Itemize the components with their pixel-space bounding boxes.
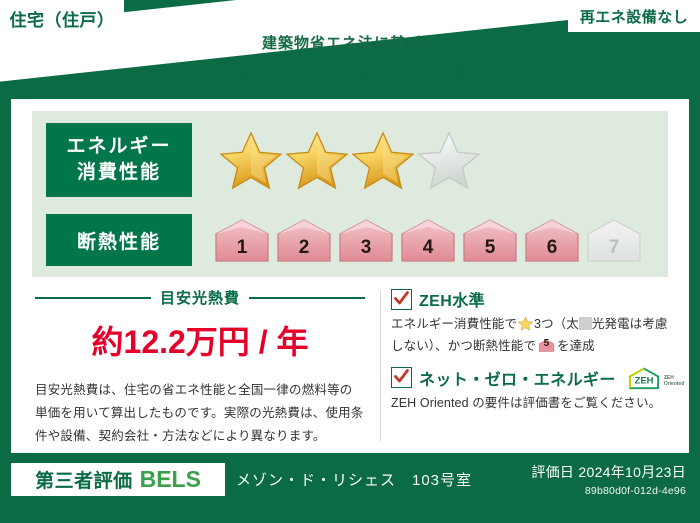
insulation-level-number-3: 3: [336, 237, 396, 259]
zeh-house-logo-icon: ZEH: [626, 366, 662, 390]
energy-performance-row: エネルギー 消費性能: [32, 123, 480, 197]
label-title: 建築物省エネ法に基づく 省エネ性能ラベル: [0, 36, 700, 91]
insulation-level-scale: 1 2 3: [212, 217, 644, 263]
inline-house-number: 5: [538, 335, 555, 353]
label-title-sub: 建築物省エネ法に基づく: [0, 36, 700, 53]
heading-rule-right: [249, 297, 365, 299]
star-icon-filled-2: [286, 130, 348, 190]
checkbox-checked-icon-net-zero[interactable]: [391, 367, 412, 388]
utility-cost-heading: 目安光熱費: [35, 287, 365, 308]
insulation-level-number-1: 1: [212, 237, 272, 259]
house-icon-inline-level5: 5: [538, 338, 555, 353]
checkbox-checked-icon-zeh-standard[interactable]: [391, 289, 412, 310]
utility-cost-amount: 約12.2万円 / 年: [35, 317, 365, 363]
net-zero-energy-block: ネット・ゼロ・エネルギー ZEH ZEH Oriented: [391, 366, 671, 415]
net-zero-energy-body: ZEH Oriented の要件は評価書をご覧ください。: [391, 393, 671, 415]
performance-panel: エネルギー 消費性能: [32, 111, 668, 277]
building-name: メゾン・ド・リシェス 103号室: [236, 463, 472, 496]
label-title-main: 省エネ性能ラベル: [0, 55, 700, 91]
redacted-character: [579, 317, 592, 330]
star-icon-filled-1: [220, 130, 282, 190]
star-icon-empty-4: [418, 130, 480, 190]
details-columns: 目安光熱費 約12.2万円 / 年 目安光熱費は、住宅の省エネ性能と全国一律の燃…: [11, 287, 689, 447]
utility-cost-column: 目安光熱費 約12.2万円 / 年 目安光熱費は、住宅の省エネ性能と全国一律の燃…: [35, 287, 365, 448]
bels-badge: 第三者評価 BELS: [11, 463, 225, 496]
energy-key-line2: 消費性能: [77, 160, 161, 186]
net-zero-energy-header: ネット・ゼロ・エネルギー ZEH ZEH Oriented: [391, 366, 671, 390]
insulation-level-7: 7: [584, 217, 644, 263]
energy-star-rating: [220, 130, 480, 190]
energy-performance-key: エネルギー 消費性能: [46, 123, 192, 197]
zeh-standard-body-stars: 3つ（太: [534, 317, 579, 331]
utility-cost-note: 目安光熱費は、住宅の省エネ性能と全国一律の燃料等の単価を用いて算出したものです。…: [35, 379, 365, 448]
zeh-standard-header: ZEH水準: [391, 287, 671, 311]
column-divider: [380, 291, 381, 441]
insulation-level-number-7: 7: [584, 237, 644, 259]
insulation-level-3: 3: [336, 217, 396, 263]
star-icon-inline: [518, 316, 533, 331]
housing-type-tag: 住宅（住戸）: [0, 0, 124, 36]
zeh-logo-sub-2: Oriented: [664, 382, 685, 387]
insulation-level-number-5: 5: [460, 237, 520, 259]
zeh-standard-body-part3: を達成: [557, 339, 595, 353]
bels-badge-jp: 第三者評価: [35, 466, 133, 493]
zeh-standard-block: ZEH水準 エネルギー消費性能で3つ（太光発電は考慮しない）、かつ断熱性能で5を…: [391, 287, 671, 358]
renewable-equipment-tag: 再エネ設備なし: [568, 0, 700, 32]
bels-badge-en: BELS: [140, 466, 201, 493]
label-footer: 第三者評価 BELS メゾン・ド・リシェス 103号室 評価日 2024年10月…: [0, 458, 700, 523]
insulation-performance-row: 断熱性能 1: [32, 214, 644, 266]
insulation-level-1: 1: [212, 217, 272, 263]
insulation-level-5: 5: [460, 217, 520, 263]
insulation-level-number-4: 4: [398, 237, 458, 259]
zeh-standard-body: エネルギー消費性能で3つ（太光発電は考慮しない）、かつ断熱性能で5を達成: [391, 314, 671, 358]
insulation-level-6: 6: [522, 217, 582, 263]
star-icon-filled-3: [352, 130, 414, 190]
heading-rule-left: [35, 297, 151, 299]
insulation-level-2: 2: [274, 217, 334, 263]
net-zero-energy-title: ネット・ゼロ・エネルギー: [419, 366, 616, 390]
insulation-level-4: 4: [398, 217, 458, 263]
zeh-standard-title: ZEH水準: [419, 287, 485, 311]
zeh-oriented-logo: ZEH ZEH Oriented: [626, 366, 685, 390]
zeh-column: ZEH水準 エネルギー消費性能で3つ（太光発電は考慮しない）、かつ断熱性能で5を…: [391, 287, 671, 423]
energy-key-line1: エネルギー: [66, 134, 171, 160]
svg-text:ZEH: ZEH: [634, 374, 653, 385]
bels-energy-performance-label: 住宅（住戸） 再エネ設備なし 建築物省エネ法に基づく 省エネ性能ラベル エネルギ…: [0, 0, 700, 523]
evaluation-date: 評価日 2024年10月23日: [531, 462, 686, 482]
insulation-level-number-2: 2: [274, 237, 334, 259]
insulation-level-number-6: 6: [522, 237, 582, 259]
evaluation-meta: 評価日 2024年10月23日 89b80d0f-012d-4e96: [531, 462, 686, 497]
label-body-card: エネルギー 消費性能: [11, 99, 689, 453]
zeh-standard-body-part1: エネルギー消費性能で: [391, 317, 517, 331]
insulation-performance-key: 断熱性能: [46, 214, 192, 266]
evaluation-id: 89b80d0f-012d-4e96: [531, 485, 686, 497]
utility-cost-heading-text: 目安光熱費: [160, 287, 240, 308]
